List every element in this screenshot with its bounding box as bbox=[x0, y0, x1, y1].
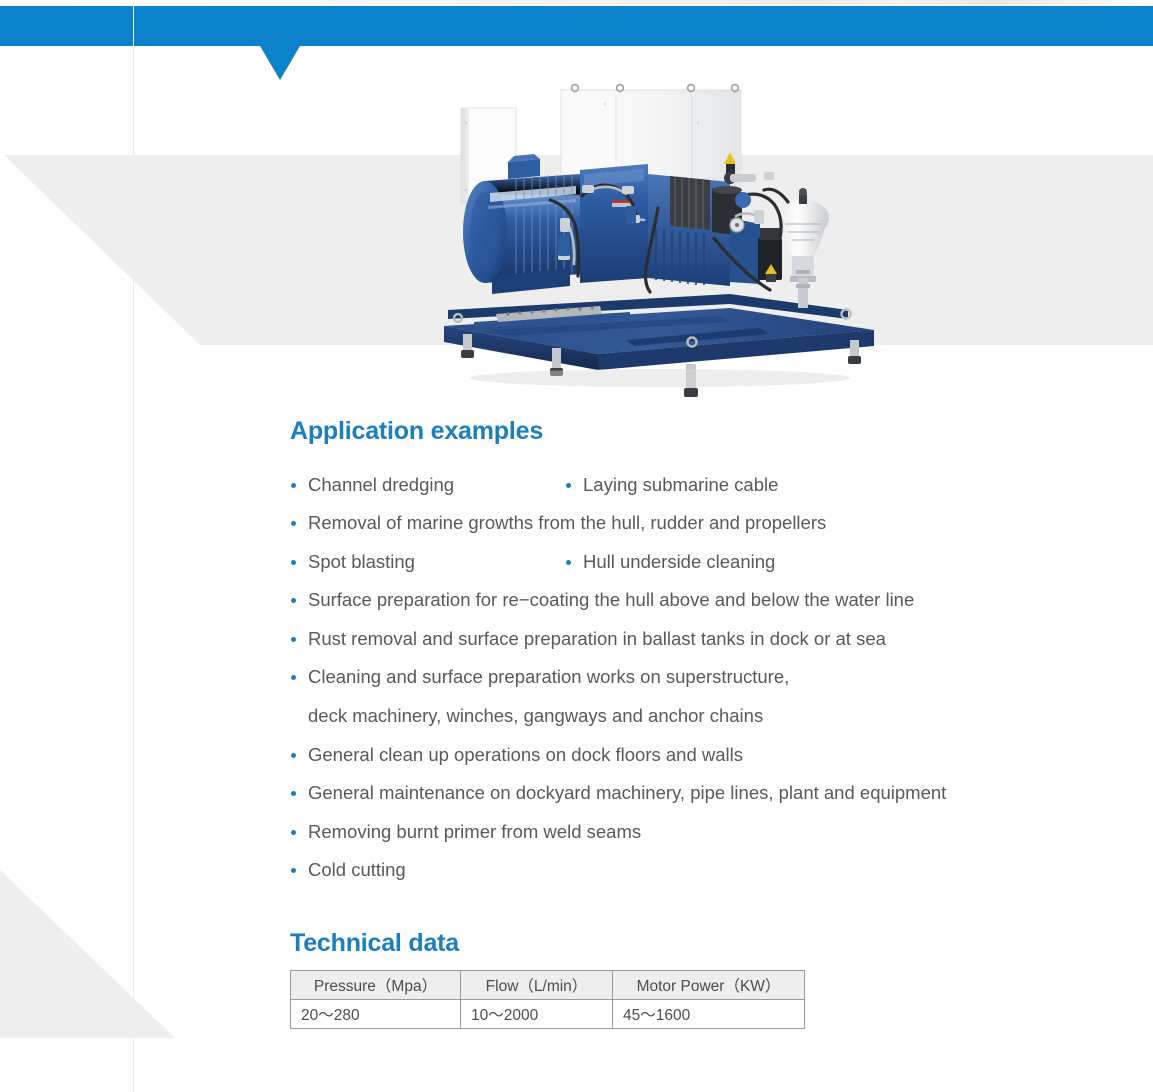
list-item-text: Channel dredging bbox=[308, 474, 454, 495]
gray-corner-triangle bbox=[0, 870, 175, 1038]
list-item-text: Cold cutting bbox=[308, 859, 406, 880]
bullet-dot-icon bbox=[566, 483, 571, 488]
list-item: Removal of marine growths from the hull,… bbox=[290, 504, 1130, 543]
bullet-dot-icon bbox=[291, 868, 296, 873]
cell-flow-value: 10～2000 bbox=[461, 999, 613, 1028]
list-item: Cold cutting bbox=[290, 851, 1130, 890]
list-item-text: Removal of marine growths from the hull,… bbox=[308, 512, 826, 533]
list-item-text: Removing burnt primer from weld seams bbox=[308, 821, 641, 842]
cell-pressure-value: 20～280 bbox=[291, 999, 461, 1028]
table-header-row: Pressure（Mpa） Flow（L/min） Motor Power（KW… bbox=[291, 970, 805, 999]
list-item: Cleaning and surface preparation works o… bbox=[290, 658, 1130, 697]
bullet-dot-icon bbox=[291, 830, 296, 835]
list-item-text: General clean up operations on dock floo… bbox=[308, 744, 743, 765]
column-header-motor-power: Motor Power（KW） bbox=[613, 970, 805, 999]
brochure-page: Application examples Channel dredging La… bbox=[0, 0, 1153, 1092]
content-column: Application examples Channel dredging La… bbox=[290, 418, 1130, 1029]
list-item-text: Surface preparation for re−coating the h… bbox=[308, 589, 914, 610]
bullet-dot-icon bbox=[291, 483, 296, 488]
list-item: Spot blasting Hull underside cleaning bbox=[290, 543, 1130, 582]
list-item: Removing burnt primer from weld seams bbox=[290, 813, 1130, 852]
list-item-text: Rust removal and surface preparation in … bbox=[308, 628, 886, 649]
header-down-triangle-icon bbox=[260, 46, 300, 80]
list-item-text: General maintenance on dockyard machiner… bbox=[308, 782, 946, 803]
table-row: 20～280 10～2000 45～1600 bbox=[291, 999, 805, 1028]
bullet-dot-icon bbox=[291, 560, 296, 565]
list-item: Surface preparation for re−coating the h… bbox=[290, 581, 1130, 620]
bullet-dot-icon bbox=[291, 791, 296, 796]
list-item-text: Cleaning and surface preparation works o… bbox=[308, 666, 789, 687]
bullet-dot-icon bbox=[566, 560, 571, 565]
technical-data-title: Technical data bbox=[290, 930, 1130, 958]
list-item: Rust removal and surface preparation in … bbox=[290, 620, 1130, 659]
list-item-continuation: deck machinery, winches, gangways and an… bbox=[290, 697, 1130, 736]
list-item-text: Hull underside cleaning bbox=[583, 551, 775, 572]
bullet-dot-icon bbox=[291, 753, 296, 758]
list-item: General maintenance on dockyard machiner… bbox=[290, 774, 1130, 813]
bullet-dot-icon bbox=[291, 521, 296, 526]
list-item-text: Spot blasting bbox=[308, 551, 415, 572]
vertical-divider-gap bbox=[133, 6, 134, 46]
blue-header-bar bbox=[0, 6, 1153, 46]
bullet-dot-icon bbox=[291, 598, 296, 603]
application-examples-list: Channel dredging Laying submarine cable … bbox=[290, 466, 1130, 891]
bullet-dot-icon bbox=[291, 675, 296, 680]
list-item: General clean up operations on dock floo… bbox=[290, 736, 1130, 775]
list-item: Channel dredging Laying submarine cable bbox=[290, 466, 1130, 505]
list-item-second-column: Hull underside cleaning bbox=[565, 543, 775, 582]
application-examples-title: Application examples bbox=[290, 418, 1130, 446]
list-item-text: deck machinery, winches, gangways and an… bbox=[308, 705, 763, 726]
column-header-pressure: Pressure（Mpa） bbox=[291, 970, 461, 999]
technical-data-table: Pressure（Mpa） Flow（L/min） Motor Power（KW… bbox=[290, 970, 805, 1029]
list-item-second-column: Laying submarine cable bbox=[565, 466, 778, 505]
bullet-dot-icon bbox=[291, 637, 296, 642]
column-header-flow: Flow（L/min） bbox=[461, 970, 613, 999]
product-photo bbox=[430, 78, 900, 410]
cell-motor-power-value: 45～1600 bbox=[613, 999, 805, 1028]
list-item-text: Laying submarine cable bbox=[583, 474, 778, 495]
top-edge-artifact bbox=[0, 0, 1153, 5]
